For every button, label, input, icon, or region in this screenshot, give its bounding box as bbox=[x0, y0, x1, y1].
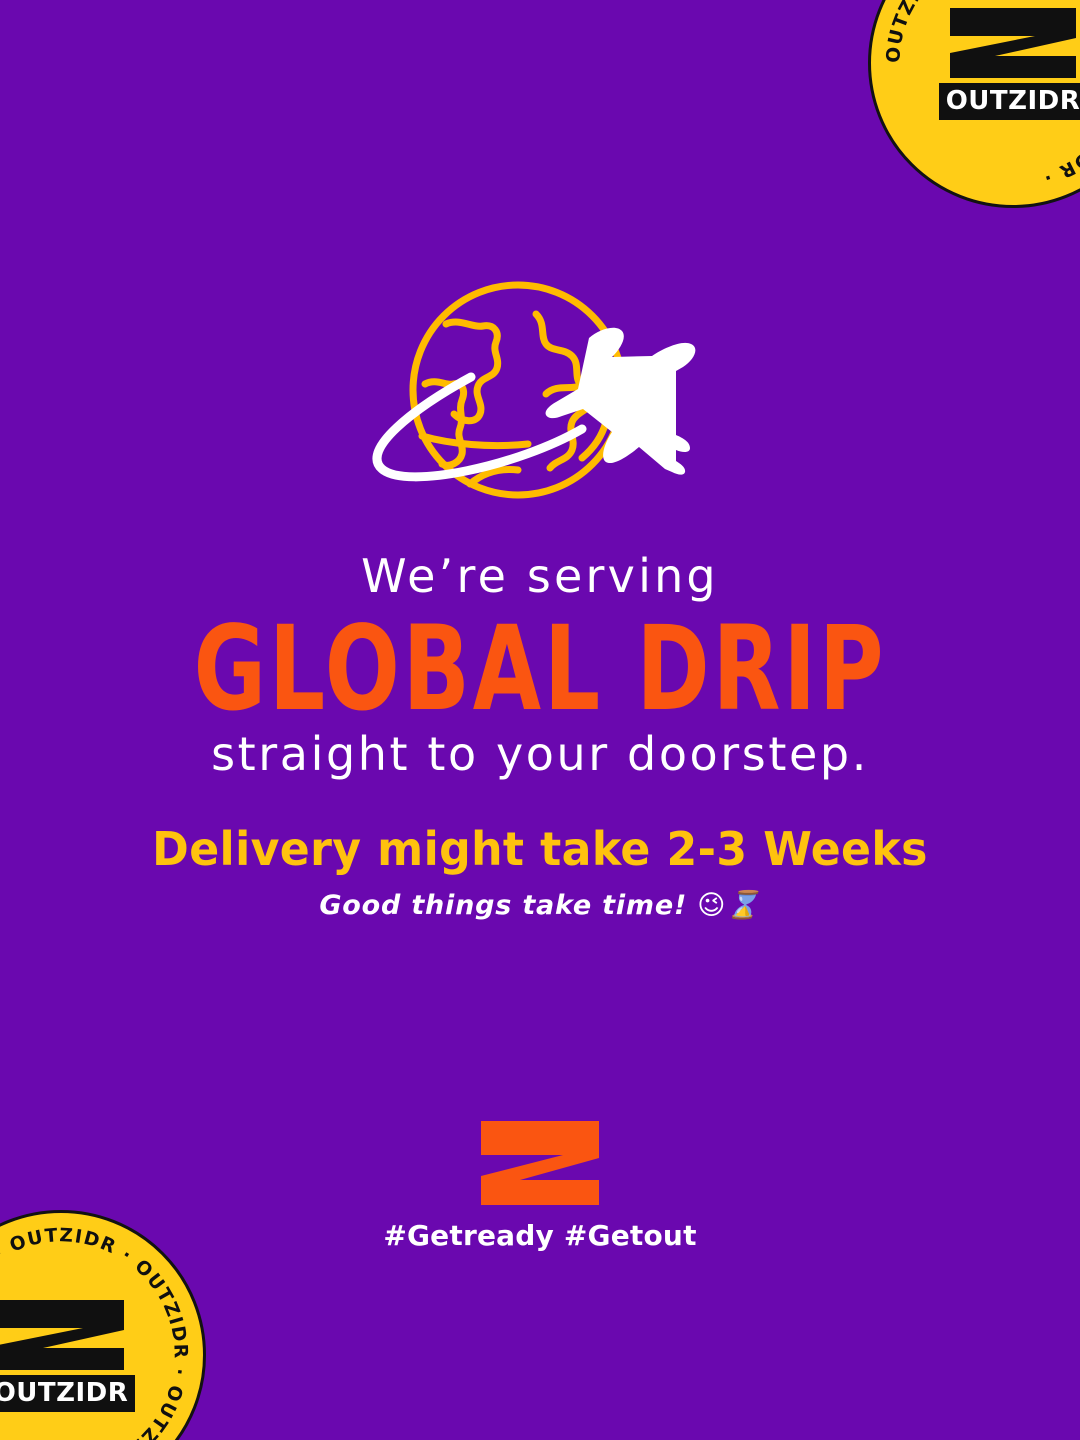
hashtags-text: #Getready #Getout bbox=[383, 1222, 696, 1250]
outzidr-z-logo-icon bbox=[477, 1118, 603, 1208]
hero-illustration bbox=[350, 272, 730, 516]
delivery-notice: Delivery might take 2-3 Weeks Good thing… bbox=[0, 824, 1080, 920]
outzidr-badge-bottom-left: OUTZIDR · OUTZIDR · OUTZIDR · OUTZIDR · … bbox=[0, 1210, 206, 1440]
delivery-sub-text: Good things take time! 😉⌛ bbox=[0, 891, 1080, 921]
headline-line-1: We’re serving bbox=[0, 552, 1080, 600]
badge-center-word-bottom-left: OUTZIDR bbox=[0, 1375, 135, 1412]
delivery-main-text: Delivery might take 2-3 Weeks bbox=[22, 824, 1059, 875]
badge-core-top-right: OUTZIDR bbox=[938, 6, 1080, 120]
headline-line-2: GLOBAL DRIP bbox=[43, 610, 1037, 729]
headline-line-3: straight to your doorstep. bbox=[0, 730, 1080, 778]
badge-z-logo-icon-top-right bbox=[947, 6, 1079, 80]
badge-core-bottom-left: OUTZIDR bbox=[0, 1298, 136, 1412]
outzidr-badge-top-right: OUTZIDR · OUTZIDR · OUTZIDR · OUTZIDR · … bbox=[868, 0, 1080, 208]
poster-canvas: We’re serving GLOBAL DRIP straight to yo… bbox=[0, 0, 1080, 1440]
badge-z-logo-icon-bottom-left bbox=[0, 1298, 127, 1372]
badge-center-word-top-right: OUTZIDR bbox=[939, 83, 1080, 120]
headline-block: We’re serving GLOBAL DRIP straight to yo… bbox=[0, 552, 1080, 779]
